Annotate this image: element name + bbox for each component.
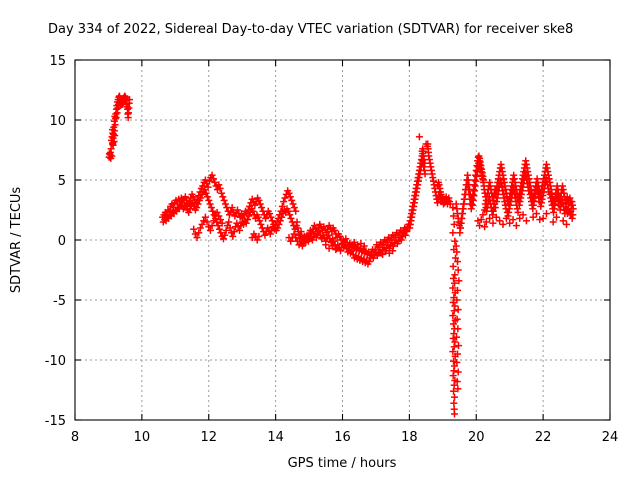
plot-svg: Day 334 of 2022, Sidereal Day-to-day VTE… (0, 0, 640, 480)
y-tick-label: 10 (49, 114, 66, 129)
x-tick-label: 10 (134, 430, 151, 445)
y-axis-label: SDTVAR / TECUs (9, 187, 24, 294)
y-tick-label: -15 (45, 414, 66, 429)
x-tick-label: 8 (71, 430, 79, 445)
x-tick-label: 18 (401, 430, 418, 445)
x-tick-label: 14 (267, 430, 284, 445)
x-axis-label: GPS time / hours (288, 456, 397, 471)
y-tick-label: -5 (53, 294, 66, 309)
sdtvar-scatter-plot: Day 334 of 2022, Sidereal Day-to-day VTE… (0, 0, 640, 480)
y-tick-label: 5 (58, 174, 66, 189)
x-tick-label: 20 (468, 430, 485, 445)
x-tick-label: 12 (200, 430, 217, 445)
x-tick-label: 24 (602, 430, 619, 445)
x-tick-label: 22 (535, 430, 552, 445)
y-tick-label: -10 (45, 354, 66, 369)
x-tick-label: 16 (334, 430, 351, 445)
y-tick-label: 15 (49, 54, 66, 69)
y-tick-label: 0 (58, 234, 66, 249)
page-title: Day 334 of 2022, Sidereal Day-to-day VTE… (48, 22, 573, 37)
